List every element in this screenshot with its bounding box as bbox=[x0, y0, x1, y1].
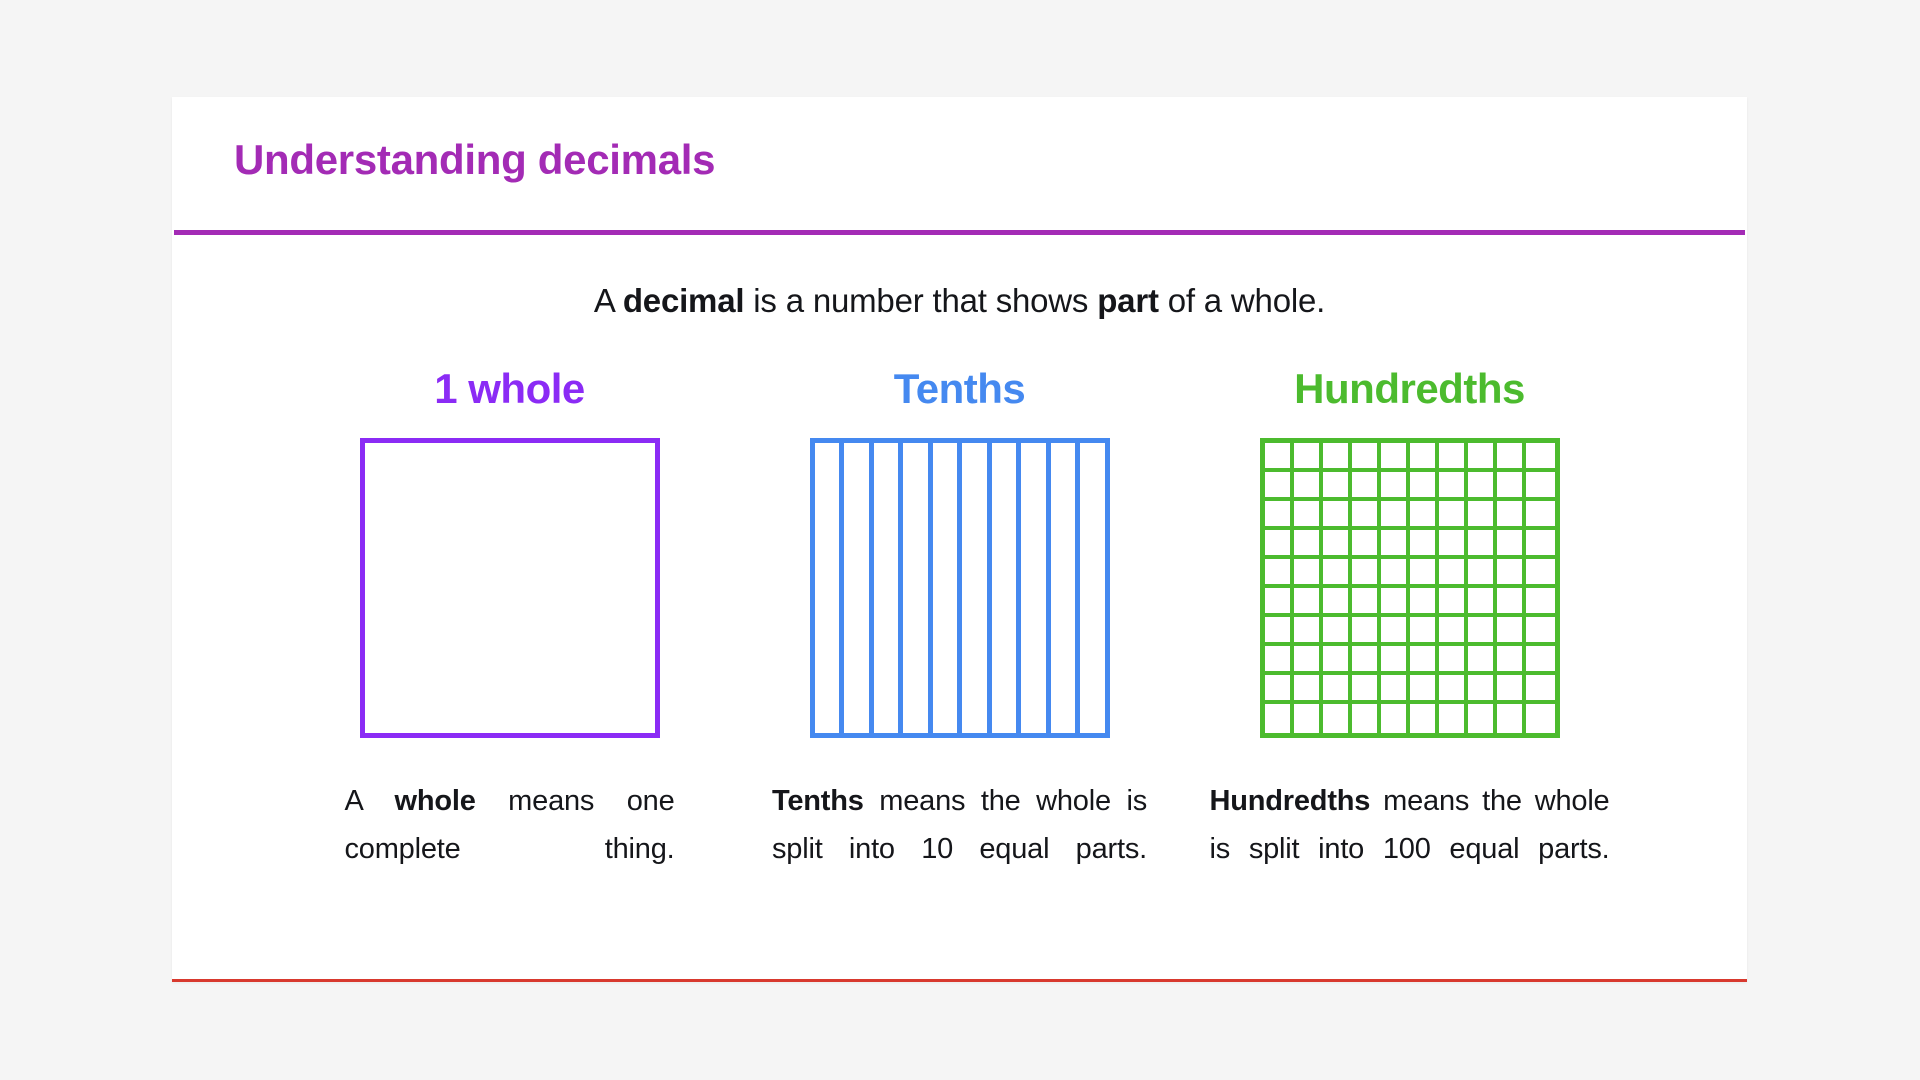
hundredths-cell bbox=[1526, 501, 1555, 530]
hundredths-cell bbox=[1323, 675, 1352, 704]
tenths-strip bbox=[844, 443, 874, 733]
column-heading-one-whole: 1 whole bbox=[434, 366, 585, 412]
hundredths-cell bbox=[1497, 646, 1526, 675]
hundredths-cell bbox=[1410, 646, 1439, 675]
lede-bold-part: part bbox=[1097, 282, 1159, 319]
card-body: A decimal is a number that shows part of… bbox=[172, 235, 1747, 979]
hundredths-cell bbox=[1468, 588, 1497, 617]
hundredths-cell bbox=[1439, 559, 1468, 588]
hundredths-cell bbox=[1497, 472, 1526, 501]
hundredths-cell bbox=[1497, 675, 1526, 704]
hundredths-cell bbox=[1265, 617, 1294, 646]
hundredths-cell bbox=[1497, 559, 1526, 588]
hundredths-cell bbox=[1410, 530, 1439, 559]
hundredths-cell bbox=[1497, 443, 1526, 472]
tenths-strip bbox=[1051, 443, 1081, 733]
hundredths-cell bbox=[1294, 704, 1323, 733]
hundredths-cell bbox=[1468, 443, 1497, 472]
hundredths-cell bbox=[1381, 704, 1410, 733]
hundredths-cell bbox=[1323, 646, 1352, 675]
hundredths-cell bbox=[1526, 704, 1555, 733]
hundredths-cell bbox=[1352, 675, 1381, 704]
hundredths-cell bbox=[1294, 559, 1323, 588]
hundredths-cell bbox=[1323, 472, 1352, 501]
hundredths-cell bbox=[1439, 675, 1468, 704]
hundredths-cell bbox=[1526, 443, 1555, 472]
hundredths-cell bbox=[1410, 675, 1439, 704]
hundredths-cell bbox=[1294, 588, 1323, 617]
hundredths-cell bbox=[1439, 588, 1468, 617]
hundredths-cell bbox=[1410, 617, 1439, 646]
column-hundredths: Hundredths Hundredths means the whole is… bbox=[1186, 366, 1633, 874]
tenths-strip bbox=[933, 443, 963, 733]
hundredths-cell bbox=[1468, 472, 1497, 501]
hundredths-cell bbox=[1439, 472, 1468, 501]
hundredths-cell bbox=[1410, 501, 1439, 530]
hundredths-cell bbox=[1323, 559, 1352, 588]
card-header: Understanding decimals bbox=[172, 97, 1747, 230]
hundredths-cell bbox=[1439, 501, 1468, 530]
figure-one-whole-square bbox=[360, 438, 660, 738]
hundredths-cell bbox=[1352, 501, 1381, 530]
tenths-strip bbox=[1021, 443, 1051, 733]
hundredths-cell bbox=[1265, 443, 1294, 472]
hundredths-cell bbox=[1323, 704, 1352, 733]
hundredths-cell bbox=[1294, 472, 1323, 501]
caption-lead-one-whole: A bbox=[345, 785, 395, 817]
hundredths-cell bbox=[1294, 501, 1323, 530]
hundredths-cell bbox=[1497, 617, 1526, 646]
hundredths-cell bbox=[1265, 501, 1294, 530]
hundredths-cell bbox=[1381, 646, 1410, 675]
hundredths-cell bbox=[1352, 530, 1381, 559]
hundredths-cell bbox=[1323, 530, 1352, 559]
hundredths-cell bbox=[1497, 501, 1526, 530]
tenths-strip bbox=[903, 443, 933, 733]
figure-hundredths-grid bbox=[1260, 438, 1560, 738]
hundredths-cell bbox=[1381, 443, 1410, 472]
slide-card: Understanding decimals A decimal is a nu… bbox=[172, 97, 1747, 982]
hundredths-cell bbox=[1497, 588, 1526, 617]
hundredths-cell bbox=[1410, 588, 1439, 617]
hundredths-cell bbox=[1526, 675, 1555, 704]
figure-tenths-strips bbox=[810, 438, 1110, 738]
hundredths-cell bbox=[1265, 675, 1294, 704]
caption-one-whole: A whole means one complete thing. bbox=[345, 778, 675, 874]
lede-sentence: A decimal is a number that shows part of… bbox=[234, 279, 1685, 324]
hundredths-cell bbox=[1265, 588, 1294, 617]
column-heading-hundredths: Hundredths bbox=[1294, 366, 1525, 412]
page-title: Understanding decimals bbox=[234, 137, 1685, 183]
hundredths-cell bbox=[1294, 530, 1323, 559]
tenths-strip bbox=[874, 443, 904, 733]
hundredths-cell bbox=[1352, 443, 1381, 472]
column-one-whole: 1 whole A whole means one complete thing… bbox=[286, 366, 733, 874]
caption-hundredths: Hundredths means the whole is split into… bbox=[1210, 778, 1610, 874]
hundredths-cell bbox=[1468, 646, 1497, 675]
hundredths-cell bbox=[1294, 617, 1323, 646]
caption-bold-hundredths: Hundredths bbox=[1210, 785, 1371, 817]
hundredths-cell bbox=[1381, 559, 1410, 588]
hundredths-cell bbox=[1352, 704, 1381, 733]
hundredths-cell bbox=[1381, 617, 1410, 646]
hundredths-cell bbox=[1323, 588, 1352, 617]
hundredths-cell bbox=[1294, 675, 1323, 704]
hundredths-cell bbox=[1265, 530, 1294, 559]
lede-part-1: A bbox=[594, 282, 623, 319]
hundredths-cell bbox=[1410, 443, 1439, 472]
hundredths-cell bbox=[1323, 443, 1352, 472]
hundredths-cell bbox=[1381, 588, 1410, 617]
hundredths-cell bbox=[1526, 588, 1555, 617]
caption-bold-tenths: Tenths bbox=[772, 785, 864, 817]
hundredths-cell bbox=[1294, 646, 1323, 675]
tenths-strip bbox=[962, 443, 992, 733]
hundredths-cell bbox=[1323, 501, 1352, 530]
hundredths-cell bbox=[1526, 559, 1555, 588]
hundredths-cell bbox=[1468, 617, 1497, 646]
hundredths-cell bbox=[1265, 646, 1294, 675]
hundredths-cell bbox=[1265, 704, 1294, 733]
hundredths-cell bbox=[1526, 472, 1555, 501]
hundredths-cell bbox=[1352, 559, 1381, 588]
hundredths-cell bbox=[1526, 617, 1555, 646]
hundredths-cell bbox=[1468, 704, 1497, 733]
column-tenths: Tenths Tenths means the whole is split i… bbox=[736, 366, 1183, 874]
hundredths-cell bbox=[1265, 559, 1294, 588]
caption-tenths: Tenths means the whole is split into 10 … bbox=[772, 778, 1147, 874]
hundredths-cell bbox=[1352, 588, 1381, 617]
hundredths-cell bbox=[1352, 617, 1381, 646]
hundredths-cell bbox=[1497, 704, 1526, 733]
hundredths-cell bbox=[1381, 530, 1410, 559]
lede-bold-decimal: decimal bbox=[623, 282, 745, 319]
hundredths-cell bbox=[1410, 472, 1439, 501]
hundredths-cell bbox=[1265, 472, 1294, 501]
hundredths-cell bbox=[1439, 443, 1468, 472]
hundredths-cell bbox=[1439, 704, 1468, 733]
hundredths-cell bbox=[1352, 472, 1381, 501]
hundredths-cell bbox=[1381, 501, 1410, 530]
hundredths-cell bbox=[1381, 675, 1410, 704]
hundredths-cell bbox=[1468, 675, 1497, 704]
hundredths-cell bbox=[1526, 530, 1555, 559]
hundredths-cell bbox=[1468, 530, 1497, 559]
hundredths-cell bbox=[1323, 617, 1352, 646]
hundredths-cell bbox=[1439, 617, 1468, 646]
hundredths-cell bbox=[1439, 530, 1468, 559]
tenths-strip bbox=[1080, 443, 1105, 733]
column-heading-tenths: Tenths bbox=[894, 366, 1026, 412]
hundredths-cell bbox=[1294, 443, 1323, 472]
hundredths-cell bbox=[1381, 472, 1410, 501]
tenths-strip bbox=[992, 443, 1022, 733]
lede-part-2: is a number that shows bbox=[744, 282, 1097, 319]
hundredths-cell bbox=[1410, 559, 1439, 588]
concept-columns: 1 whole A whole means one complete thing… bbox=[234, 366, 1685, 874]
tenths-strip bbox=[815, 443, 845, 733]
hundredths-cell bbox=[1352, 646, 1381, 675]
hundredths-cell bbox=[1468, 501, 1497, 530]
hundredths-cell bbox=[1497, 530, 1526, 559]
hundredths-cell bbox=[1439, 646, 1468, 675]
hundredths-cell bbox=[1526, 646, 1555, 675]
lede-part-3: of a whole. bbox=[1159, 282, 1325, 319]
caption-bold-whole: whole bbox=[395, 785, 476, 817]
hundredths-cell bbox=[1468, 559, 1497, 588]
hundredths-cell bbox=[1410, 704, 1439, 733]
